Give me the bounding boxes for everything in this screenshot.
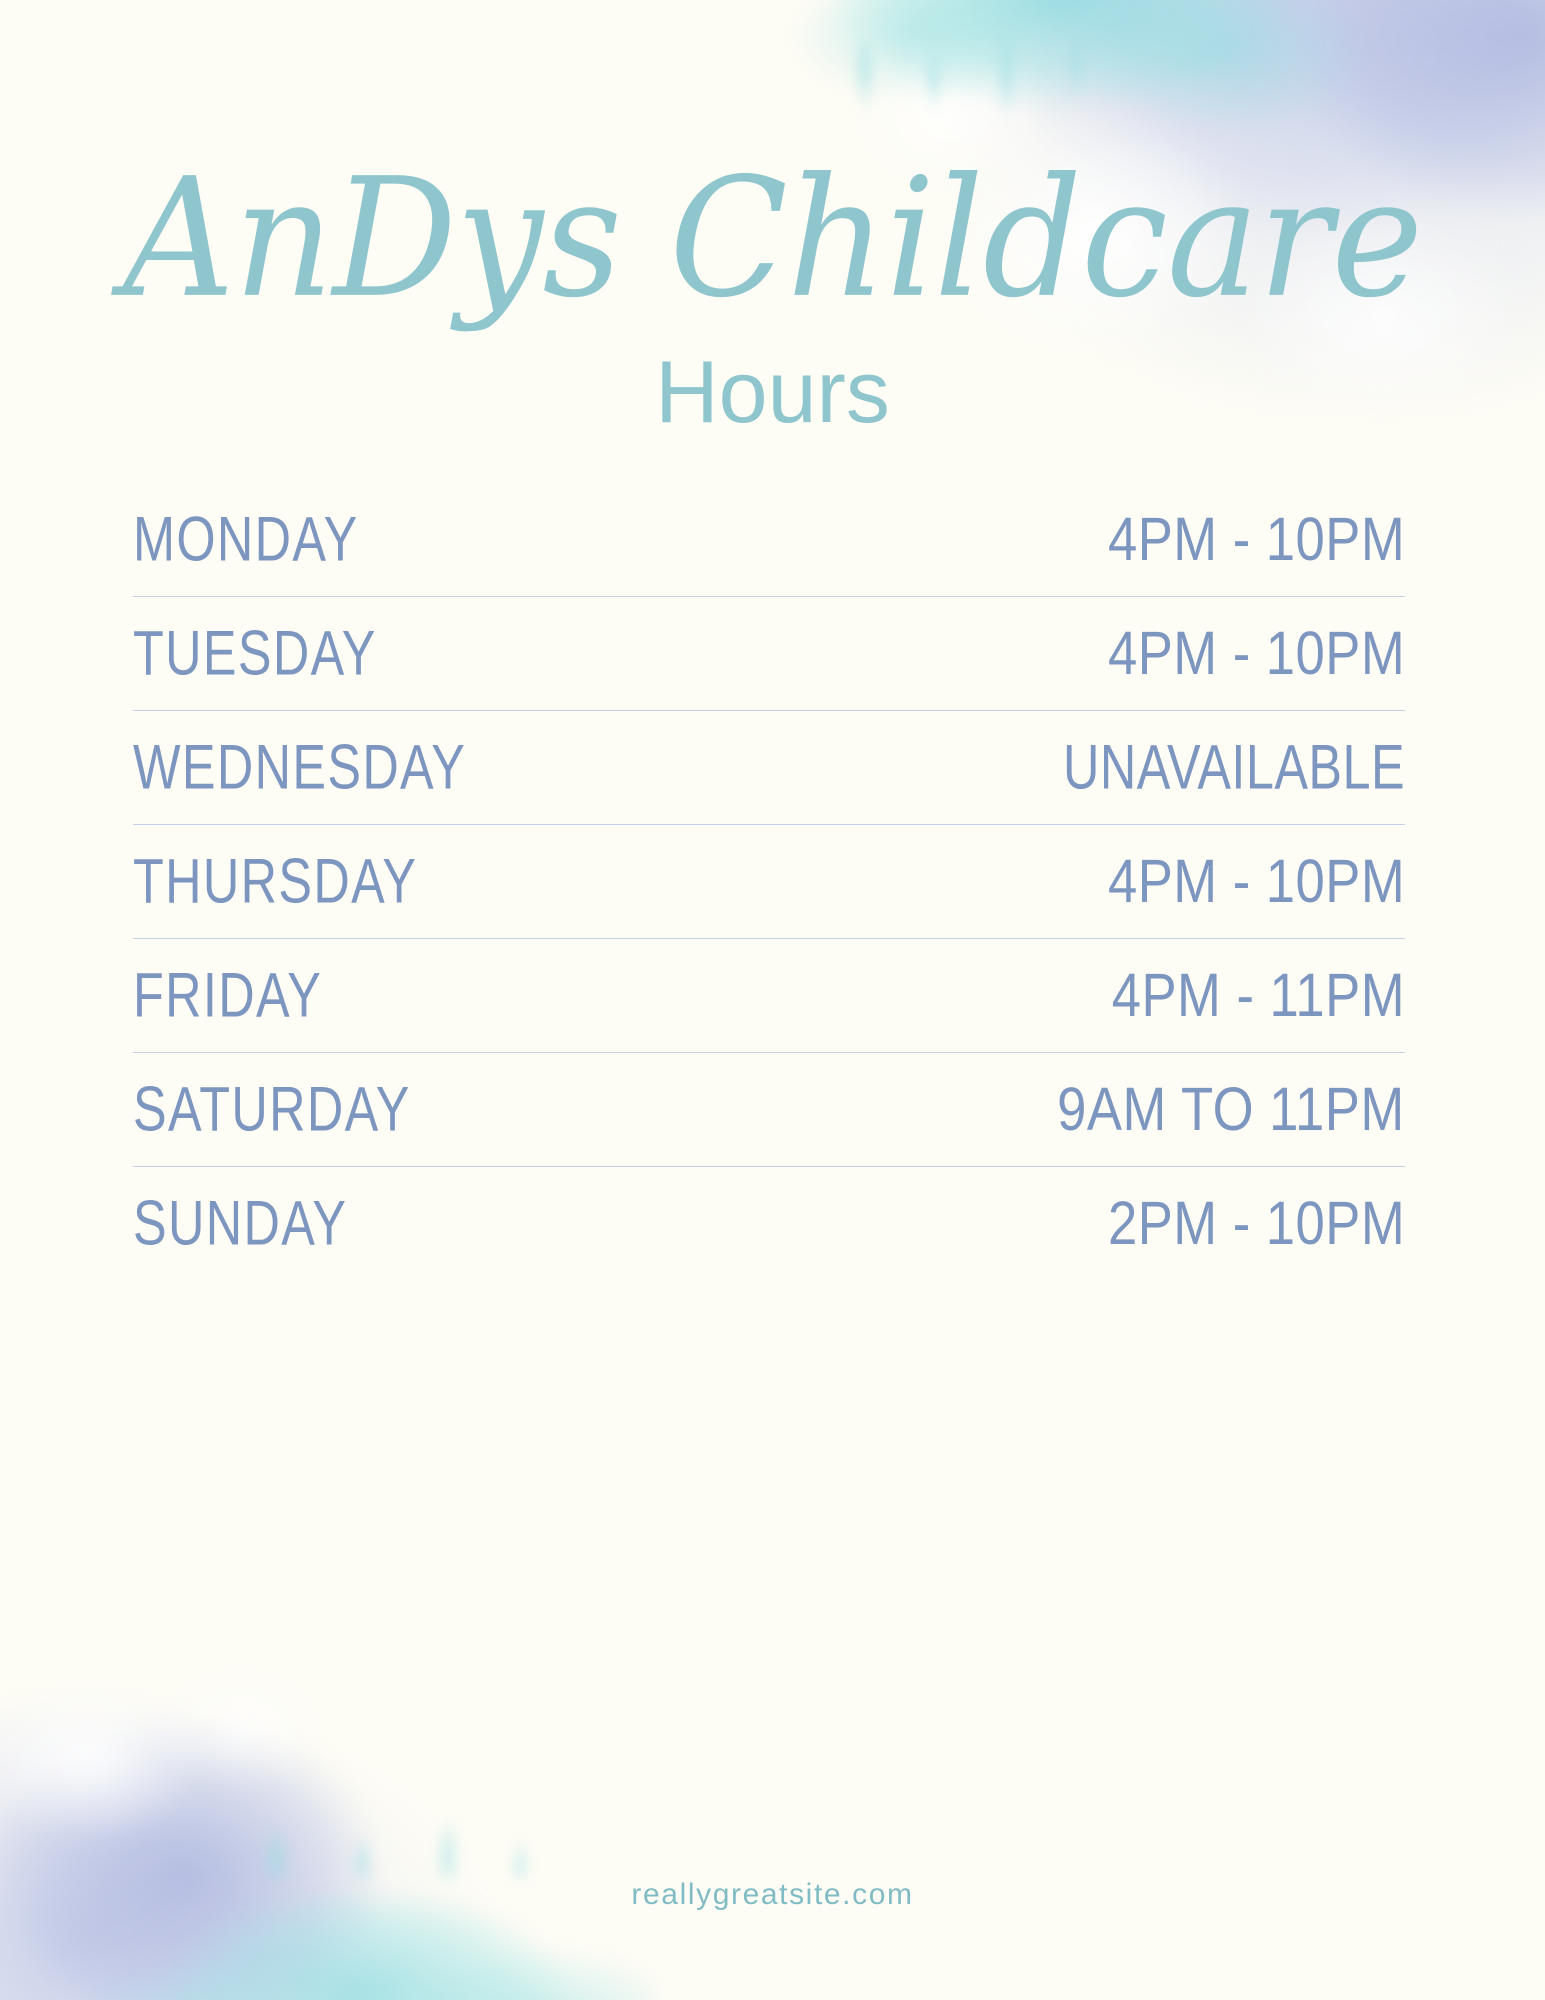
schedule-day-label: FRIDAY	[133, 964, 322, 1027]
schedule-time-value: 4PM - 11PM	[1112, 964, 1405, 1026]
schedule-row: FRIDAY4PM - 11PM	[133, 938, 1405, 1052]
schedule-day-label: SUNDAY	[133, 1192, 347, 1255]
schedule-time-value: 2PM - 10PM	[1108, 1192, 1405, 1254]
schedule-row: MONDAY4PM - 10PM	[133, 482, 1405, 596]
schedule-row: TUESDAY4PM - 10PM	[133, 596, 1405, 710]
schedule-day-label: THURSDAY	[133, 850, 417, 913]
schedule-time-value: 4PM - 10PM	[1108, 622, 1405, 684]
schedule-row: THURSDAY4PM - 10PM	[133, 824, 1405, 938]
schedule-row: SUNDAY2PM - 10PM	[133, 1166, 1405, 1280]
hours-schedule-list: MONDAY4PM - 10PMTUESDAY4PM - 10PMWEDNESD…	[133, 482, 1405, 1280]
schedule-time-value: 9AM TO 11PM	[1058, 1078, 1405, 1140]
business-title: AnDys Childcare	[0, 156, 1545, 320]
schedule-day-label: SATURDAY	[133, 1078, 411, 1141]
schedule-row: WEDNESDAYUNAVAILABLE	[133, 710, 1405, 824]
schedule-time-value: 4PM - 10PM	[1108, 850, 1405, 912]
schedule-unavailable-value: UNAVAILABLE	[1063, 736, 1405, 799]
schedule-day-label: WEDNESDAY	[133, 736, 466, 799]
page-subtitle: Hours	[0, 348, 1545, 436]
schedule-row: SATURDAY9AM TO 11PM	[133, 1052, 1405, 1166]
schedule-time-value: 4PM - 10PM	[1108, 508, 1405, 570]
schedule-day-label: TUESDAY	[133, 622, 377, 685]
schedule-day-label: MONDAY	[133, 508, 359, 571]
website-footer: reallygreatsite.com	[0, 1878, 1545, 1912]
poster-canvas: AnDys Childcare Hours MONDAY4PM - 10PMTU…	[0, 0, 1545, 2000]
